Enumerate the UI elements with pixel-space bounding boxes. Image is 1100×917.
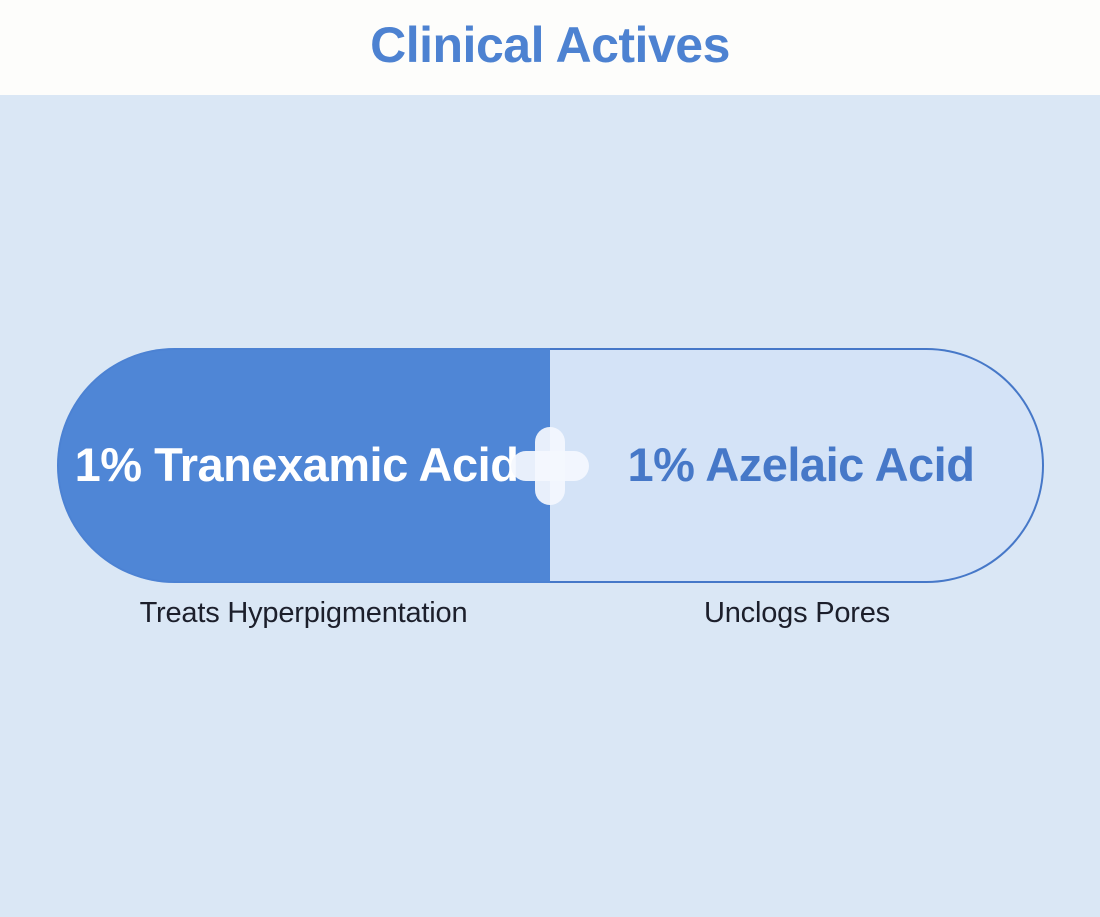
ingredient-capsule: 1% Tranexamic Acid 1% Azelaic Acid (57, 348, 1044, 583)
caption-unclogs-pores: Unclogs Pores (550, 598, 1044, 630)
caption-treats-hyperpigmentation: Treats Hyperpigmentation (57, 598, 550, 630)
caption-row: Treats Hyperpigmentation Unclogs Pores (57, 598, 1044, 630)
header-bar: Clinical Actives (0, 0, 1100, 95)
main-canvas: 1% Tranexamic Acid 1% Azelaic Acid Treat… (0, 95, 1100, 917)
tranexamic-acid-label: 1% Tranexamic Acid (75, 438, 519, 493)
capsule-half-azelaic: 1% Azelaic Acid (550, 348, 1044, 583)
capsule-half-tranexamic: 1% Tranexamic Acid (57, 348, 550, 583)
page-title: Clinical Actives (370, 20, 730, 76)
azelaic-acid-label: 1% Azelaic Acid (628, 438, 975, 493)
